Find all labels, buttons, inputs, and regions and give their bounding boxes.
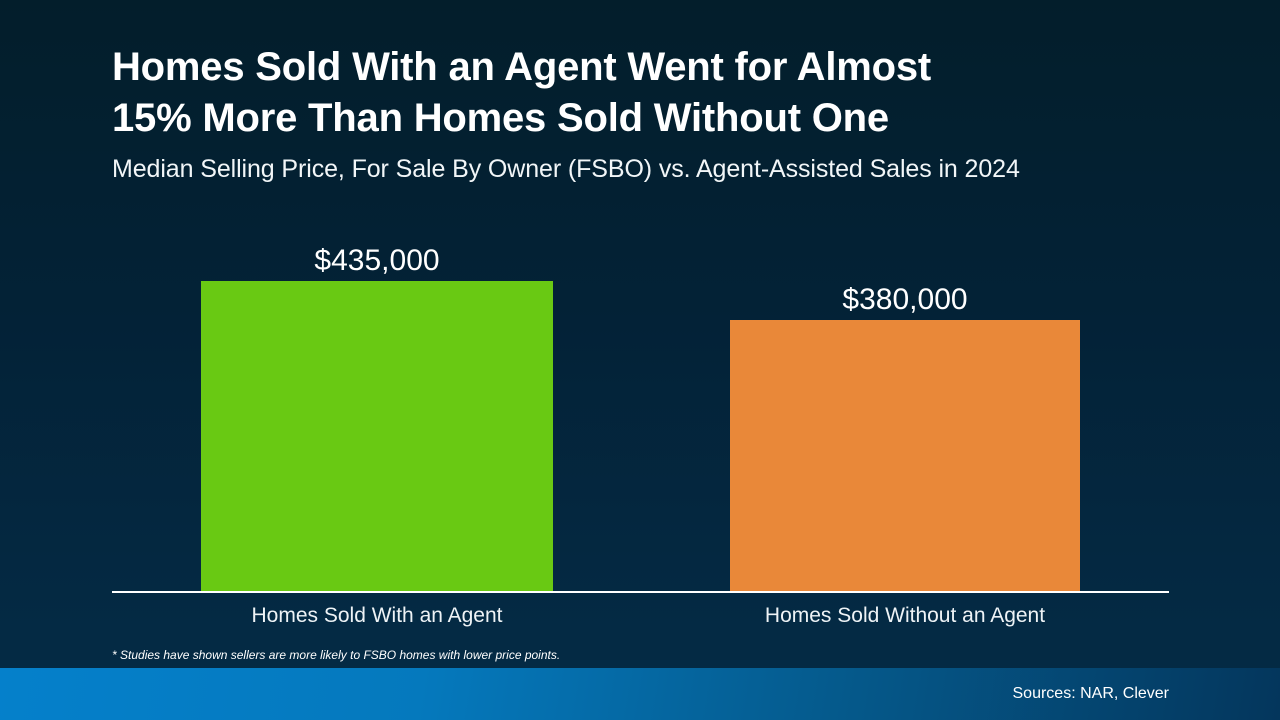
bar-value-label-agent: $435,000 bbox=[314, 244, 439, 278]
footer-bar: Sources: NAR, Clever bbox=[0, 668, 1280, 720]
bar-value-label-no-agent: $380,000 bbox=[842, 283, 967, 317]
bar-chart: $435,000 Homes Sold With an Agent $380,0… bbox=[0, 0, 1280, 720]
bar-category-label-agent: Homes Sold With an Agent bbox=[252, 604, 503, 628]
bar-homes-sold-without-an-agent[interactable]: $380,000 Homes Sold Without an Agent bbox=[730, 320, 1080, 592]
bar-homes-sold-with-an-agent[interactable]: $435,000 Homes Sold With an Agent bbox=[201, 281, 553, 592]
footnote-text: * Studies have shown sellers are more li… bbox=[112, 648, 560, 663]
slide-root: Homes Sold With an Agent Went for Almost… bbox=[0, 0, 1280, 720]
bar-category-label-no-agent: Homes Sold Without an Agent bbox=[765, 604, 1045, 628]
bar-rect-no-agent bbox=[730, 320, 1080, 592]
sources-label: Sources: NAR, Clever bbox=[1013, 684, 1170, 704]
axis-baseline bbox=[112, 591, 1169, 593]
bar-rect-agent bbox=[201, 281, 553, 592]
